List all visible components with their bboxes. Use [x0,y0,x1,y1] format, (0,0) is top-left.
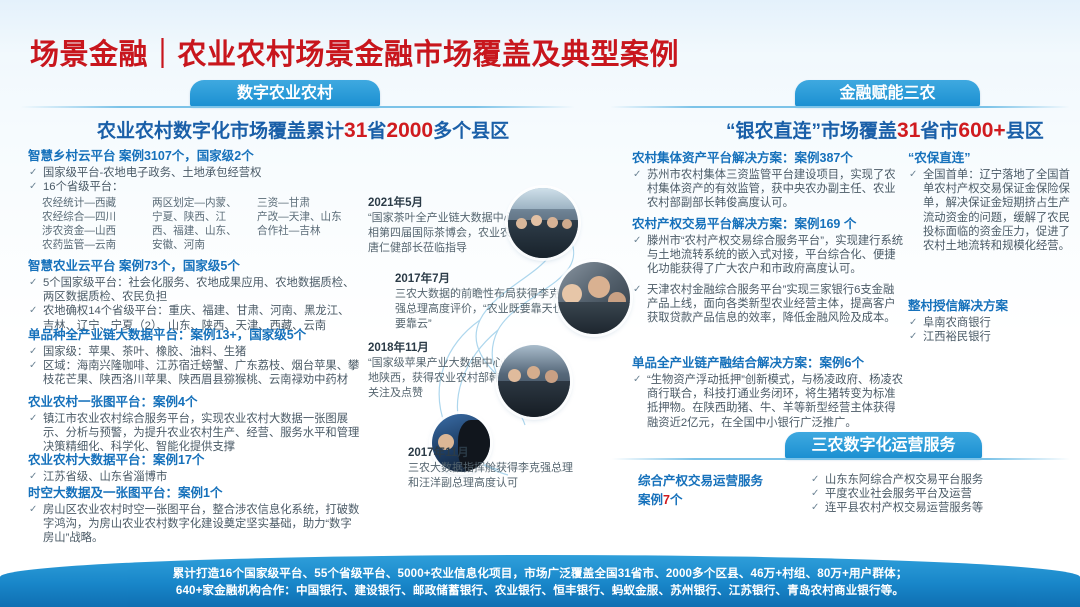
summary-banner: 累计打造16个国家级平台、55个省级平台、5000+农业信息化项目，市场广泛覆盖… [0,555,1080,607]
left-section-1: 智慧乡村云平台 案例3107个，国家级2个 国家级平台-农地电子政务、土地承包经… [28,148,358,252]
list-item: 阜南农商银行 [908,316,1074,330]
banner-line-1: 累计打造16个国家级平台、55个省级平台、5000+农业信息化项目，市场广泛覆盖… [0,565,1080,582]
page-title: 场景金融｜农业农村场景金融市场覆盖及典型案例 [30,31,679,73]
province-cell: 安徽、河南 [152,238,252,252]
right-headline-num2: 600+ [958,119,1005,142]
left-section-3-list: 国家级：苹果、茶叶、橡胶、油料、生猪 区域：海南兴隆咖啡、江苏宿迁螃蟹、广东荔枝… [28,345,360,388]
count-pre: 案例 [638,493,663,507]
list-item: 国家级：苹果、茶叶、橡胶、油料、生猪 [28,345,360,359]
list-item: 全国首单：辽宁落地了全国首单农村产权交易保证金保险保单，解决保证金短期挤占生产流… [908,168,1074,253]
left-section-2-title: 智慧农业云平台 案例73个，国家级5个 [28,258,360,275]
list-item: 山东东阿综合产权交易平台服务 [810,473,1060,487]
right-side-1-title: “农保直连” [908,150,1074,167]
timeline-entry-2: 2017年7月 三农大数据的前瞻性布局获得李克强总理高度评价，“农业既要靠天也要… [395,272,567,332]
list-item: 江苏省级、山东省淄博市 [28,470,360,484]
left-section-4-title: 农业农村一张图平台：案例4个 [28,394,360,411]
timeline-text: 三农大数据指挥舱获得李克强总理和汪洋副总理高度认可 [408,461,583,491]
right-section-3-list: “生物资产浮动抵押”创新模式，与杨凌政府、杨凌农商行联合，科技打通业务闭环，将生… [632,373,904,430]
list-item: 江西裕民银行 [908,330,1074,344]
left-section-5-title: 农业农村大数据平台：案例17个 [28,452,360,469]
right-side-block-2: 整村授信解决方案 阜南农商银行 江西裕民银行 [908,298,1074,344]
list-item: 滕州市“农村产权交易综合服务平台”，实现建行系统与土地流转系统的嵌入式对接，平台… [632,234,904,277]
province-col-1: 农经统计—西藏 农经综合—四川 涉农资金—山西 农药监管—云南 [42,196,142,252]
right-headline-num1: 31 [897,119,920,142]
province-cell: 三资—甘肃 [257,196,357,210]
list-item: 连平县农村产权交易运营服务等 [810,501,1060,515]
slide-canvas: 场景金融｜农业农村场景金融市场覆盖及典型案例 数字农业农村 农业农村数字化市场覆… [0,0,1080,607]
bottom-right-list-block: 山东东阿综合产权交易平台服务 平度农业社会服务平台及运营 连平县农村产权交易运营… [810,472,1060,516]
count-post: 个 [670,493,683,507]
count-num: 7 [663,493,670,507]
left-section-6: 时空大数据及一张图平台：案例1个 房山区农业农村时空一张图平台，整合涉农信息化系… [28,485,360,546]
list-item: 平度农业社会服务平台及运营 [810,487,1060,501]
right-headline-pre: “银农直连”市场覆盖 [726,121,897,142]
right-side-2-title: 整村授信解决方案 [908,298,1074,315]
timeline-date: 2017年7月 [395,272,567,287]
province-col-2: 两区划定—内蒙、 宁夏、陕西、江 西、福建、山东、 安徽、河南 [152,196,247,252]
banner-line-2: 640+家金融机构合作：中国银行、建设银行、邮政储蓄银行、农业银行、恒丰银行、蚂… [0,582,1080,599]
divider-left [20,106,575,108]
left-section-3-title: 单品种全产业链大数据平台：案例13+，国家级5个 [28,327,360,344]
right-section-1-title: 农村集体资产平台解决方案：案例387个 [632,150,904,167]
list-item: 5个国家级平台：社会化服务、农地成果应用、农地数据质检、两区数据质检、农民负担 [28,276,360,304]
left-section-4: 农业农村一张图平台：案例4个 镇江市农业农村综合服务平台，实现农业农村大数据一张… [28,394,360,455]
right-headline: “银农直连”市场覆盖31省市600+县区 [726,116,1044,143]
left-headline-post: 多个县区 [433,121,509,142]
left-headline-num2: 2000 [386,119,433,142]
timeline-photo-3 [498,345,570,417]
left-section-2: 智慧农业云平台 案例73个，国家级5个 5个国家级平台：社会化服务、农地成果应用… [28,258,360,333]
list-item: 国家级平台-农地电子政务、土地承包经营权 [28,166,358,180]
left-section-3: 单品种全产业链大数据平台：案例13+，国家级5个 国家级：苹果、茶叶、橡胶、油料… [28,327,360,388]
province-cell: 涉农资金—山西 [42,224,142,238]
section-header-digital-operation: 三农数字化运营服务 [785,432,982,459]
left-section-6-title: 时空大数据及一张图平台：案例1个 [28,485,360,502]
province-cell: 农经综合—四川 [42,210,137,224]
timeline-date: 2018年11月 [368,341,526,356]
province-cell: 合作社—吉林 [257,224,357,238]
section-header-finance-empower: 金融赋能三农 [795,80,980,107]
list-item: 天津农村金融综合服务平台”实现三家银行6支金融产品上线，面向各类新型农业经营主体… [632,283,904,326]
province-cell: 农经统计—西藏 [42,196,142,210]
divider-bottom-right [612,458,1070,460]
list-item: 16个省级平台： [28,180,358,194]
province-col-3: 三资—甘肃 产改—天津、山东 合作社—吉林 [257,196,357,252]
left-section-6-list: 房山区农业农村时空一张图平台，整合涉农信息化系统，打破数字鸿沟，为房山农业农村数… [28,503,360,546]
bottom-right-count: 案例7个 [638,492,788,509]
left-section-2-list: 5个国家级平台：社会化服务、农地成果应用、农地数据质检、两区数据质检、农民负担 … [28,276,360,333]
list-item: 区域：海南兴隆咖啡、江苏宿迁螃蟹、广东荔枝、烟台苹果、攀枝花芒果、陕西洛川苹果、… [28,359,360,387]
left-section-5-list: 江苏省级、山东省淄博市 [28,470,360,484]
timeline-text: 三农大数据的前瞻性布局获得李克强总理高度评价，“农业既要靠天也要靠云” [395,287,567,332]
right-section-1-list: 苏州市农村集体三资监管平台建设项目，实现了农村集体资产的有效监管，获中央农办副主… [632,168,904,211]
right-side-1-list: 全国首单：辽宁落地了全国首单农村产权交易保证金保险保单，解决保证金短期挤占生产流… [908,168,1074,253]
list-item: 房山区农业农村时空一张图平台，整合涉农信息化系统，打破数字鸿沟，为房山农业农村数… [28,503,360,546]
right-headline-post: 县区 [1006,121,1044,142]
province-table: 农经统计—西藏 农经综合—四川 涉农资金—山西 农药监管—云南 两区划定—内蒙、… [42,196,358,252]
right-side-2-list: 阜南农商银行 江西裕民银行 [908,316,1074,344]
right-section-1: 农村集体资产平台解决方案：案例387个 苏州市农村集体三资监管平台建设项目，实现… [632,150,904,211]
timeline-photo-2 [558,262,630,334]
right-section-3: 单品全产业链产融结合解决方案：案例6个 “生物资产浮动抵押”创新模式，与杨凌政府… [632,355,904,430]
bottom-right-title: 综合产权交易运营服务 [638,470,788,492]
left-headline: 农业农村数字化市场覆盖累计31省2000多个县区 [97,116,509,143]
divider-right [610,106,1070,108]
province-cell: 西、福建、山东、 [152,224,252,238]
bottom-right-list: 山东东阿综合产权交易平台服务 平度农业社会服务平台及运营 连平县农村产权交易运营… [810,473,1060,516]
right-section-2-title: 农村产权交易平台解决方案：案例169 个 [632,216,904,233]
left-section-5: 农业农村大数据平台：案例17个 江苏省级、山东省淄博市 [28,452,360,484]
province-cell: 农药监管—云南 [42,238,142,252]
province-cell: 产改—天津、山东 [257,210,352,224]
left-section-1-list: 国家级平台-农地电子政务、土地承包经营权 16个省级平台： [28,166,358,194]
right-side-block-1: “农保直连” 全国首单：辽宁落地了全国首单农村产权交易保证金保险保单，解决保证金… [908,150,1074,253]
bottom-right-title-block: 综合产权交易运营服务 案例7个 [638,470,788,509]
left-headline-mid: 省 [367,121,386,142]
right-section-3-title: 单品全产业链产融结合解决方案：案例6个 [632,355,904,372]
section-header-digital-agriculture: 数字农业农村 [190,80,380,107]
list-item: 镇江市农业农村综合服务平台，实现农业农村大数据一张图展示、分析与预警，为提升农业… [28,412,360,455]
province-cell: 两区划定—内蒙、 [152,196,252,210]
left-headline-num1: 31 [344,119,367,142]
left-headline-pre: 农业农村数字化市场覆盖累计 [97,121,344,142]
list-item: 苏州市农村集体三资监管平台建设项目，实现了农村集体资产的有效监管，获中央农办副主… [632,168,904,211]
right-section-2: 农村产权交易平台解决方案：案例169 个 滕州市“农村产权交易综合服务平台”，实… [632,216,904,325]
timeline-photo-1 [508,188,578,258]
list-item: “生物资产浮动抵押”创新模式，与杨凌政府、杨凌农商行联合，科技打通业务闭环，将生… [632,373,904,430]
right-headline-mid: 省市 [920,121,958,142]
timeline-entry-4: 2017年11月 三农大数据指挥舱获得李克强总理和汪洋副总理高度认可 [408,446,583,491]
left-section-1-title: 智慧乡村云平台 案例3107个，国家级2个 [28,148,358,165]
timeline-date: 2017年11月 [408,446,583,461]
left-section-4-list: 镇江市农业农村综合服务平台，实现农业农村大数据一张图展示、分析与预警，为提升农业… [28,412,360,455]
right-section-2-list: 滕州市“农村产权交易综合服务平台”，实现建行系统与土地流转系统的嵌入式对接，平台… [632,234,904,325]
province-cell: 宁夏、陕西、江 [152,210,247,224]
